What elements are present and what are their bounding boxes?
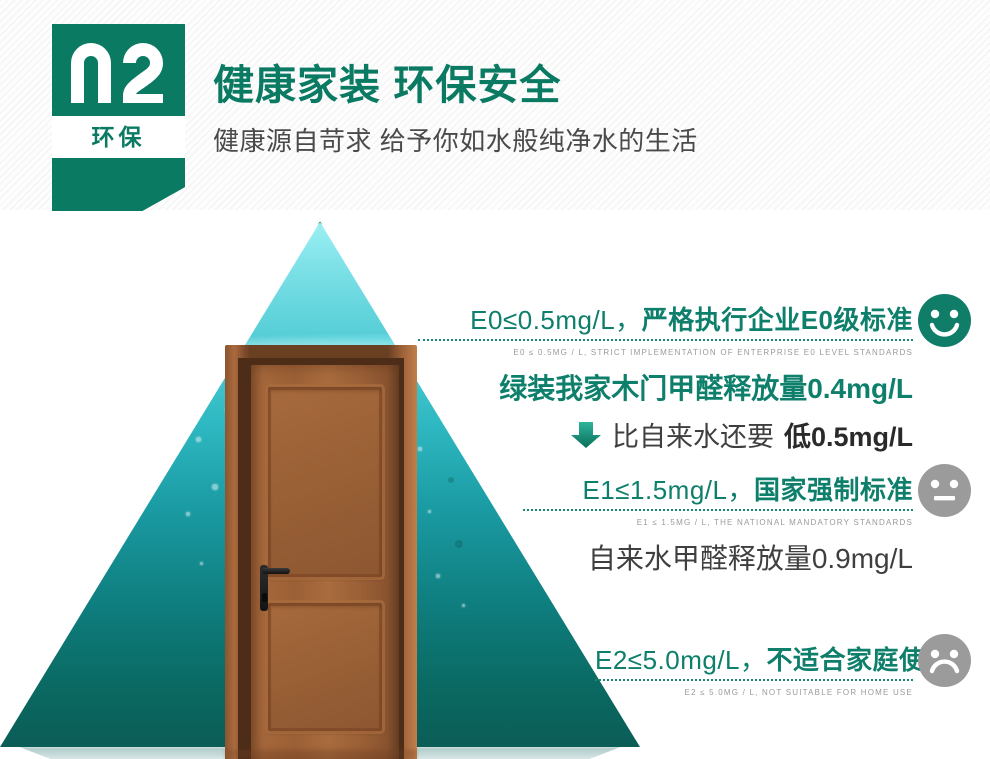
page-title: 健康家装 环保安全 <box>213 62 953 109</box>
e2-headline-plain: E2≤5.0mg/L， <box>595 645 767 675</box>
info-block-e1: E1≤1.5mg/L，国家强制标准 E1 ≤ 1.5MG / L, THE NA… <box>523 470 913 577</box>
e0-english-caption: E0 ≤ 0.5MG / L, STRICT IMPLEMENTATION OF… <box>418 348 913 357</box>
e1-headline-bold: 国家强制标准 <box>754 475 913 505</box>
header-text-group: 健康家装 环保安全 健康源自苛求 给予你如水般纯净水的生活 <box>213 62 953 158</box>
e0-compare-plain: 比自来水还要 <box>612 415 774 454</box>
page-subtitle: 健康源自苛求 给予你如水般纯净水的生活 <box>213 121 953 158</box>
sad-face-icon <box>918 634 971 687</box>
e0-headline: E0≤0.5mg/L，严格执行企业E0级标准 <box>418 300 913 341</box>
hero-stage: E0≤0.5mg/L，严格执行企业E0级标准 E0 ≤ 0.5MG / L, S… <box>0 210 990 759</box>
info-block-e2: E2≤5.0mg/L，不适合家庭使用 E2 ≤ 5.0MG / L, NOT S… <box>595 640 913 697</box>
neutral-face-icon <box>918 464 971 517</box>
door-leaf <box>251 365 399 759</box>
badge-bottom-block <box>52 158 185 211</box>
e0-dotted-rule <box>418 339 913 341</box>
e2-dotted-rule <box>595 679 913 681</box>
e1-dotted-rule <box>523 509 913 511</box>
door-handle-lever <box>262 568 290 574</box>
badge-label: 环保 <box>52 116 185 158</box>
e0-compare-line: 比自来水还要低0.5mg/L <box>418 415 913 454</box>
section-badge: 环保 <box>52 24 185 187</box>
e0-headline-plain: E0≤0.5mg/L， <box>470 305 642 335</box>
e1-headline: E1≤1.5mg/L，国家强制标准 <box>523 470 913 511</box>
arrow-down-icon <box>570 421 602 449</box>
e0-value-line: 绿装我家木门甲醛释放量0.4mg/L <box>418 367 913 407</box>
door-reflection <box>225 750 417 759</box>
e2-headline: E2≤5.0mg/L，不适合家庭使用 <box>595 640 913 681</box>
e0-headline-bold: 严格执行企业E0级标准 <box>642 305 913 335</box>
door-keyhole <box>262 593 267 602</box>
page-header: 环保 健康家装 环保安全 健康源自苛求 给予你如水般纯净水的生活 <box>0 0 990 210</box>
e0-compare-bold: 低0.5mg/L <box>784 415 913 454</box>
e1-english-caption: E1 ≤ 1.5MG / L, THE NATIONAL MANDATORY S… <box>523 518 913 527</box>
e2-english-caption: E2 ≤ 5.0MG / L, NOT SUITABLE FOR HOME US… <box>595 688 913 697</box>
happy-face-icon <box>918 294 971 347</box>
wooden-door <box>225 345 417 759</box>
info-block-e0: E0≤0.5mg/L，严格执行企业E0级标准 E0 ≤ 0.5MG / L, S… <box>418 300 913 454</box>
e1-value-line: 自来水甲醛释放量0.9mg/L <box>523 537 913 577</box>
e1-headline-plain: E1≤1.5mg/L， <box>582 475 754 505</box>
badge-number <box>52 28 185 116</box>
door-panel-bottom <box>268 603 382 731</box>
door-panel-top <box>268 387 382 577</box>
badge-label-text: 环保 <box>92 126 146 149</box>
